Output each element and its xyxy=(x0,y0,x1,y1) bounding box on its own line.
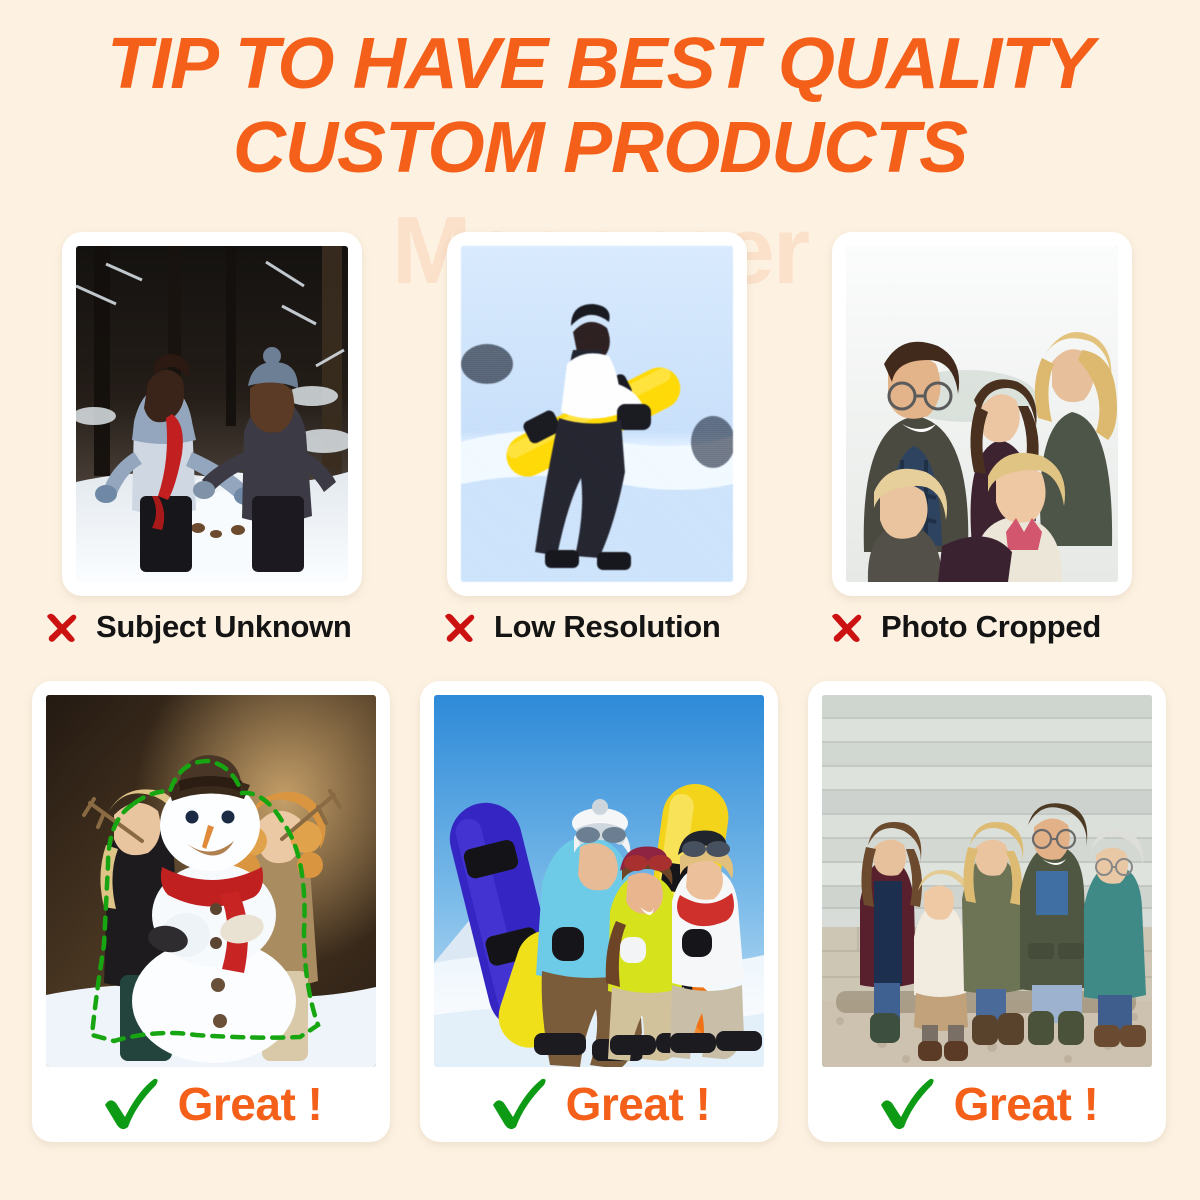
bad-label-text: Low Resolution xyxy=(494,609,721,645)
good-label-snowman-couple: Great ! xyxy=(46,1067,376,1138)
photo-low-resolution xyxy=(461,246,733,582)
photo-illustration-snowboarders xyxy=(434,695,764,1067)
good-label-text: Great ! xyxy=(566,1077,711,1131)
x-mark-icon xyxy=(42,607,82,647)
check-mark-icon xyxy=(100,1075,162,1133)
good-label-text: Great ! xyxy=(954,1077,1099,1131)
photo-snowman-couple xyxy=(46,695,376,1067)
good-example-card-three-snowboarders: Great ! xyxy=(420,681,778,1142)
good-label-text: Great ! xyxy=(178,1077,323,1131)
page-title: TIP TO HAVE BEST QUALITY CUSTOM PRODUCTS xyxy=(0,22,1200,190)
photo-subject-unknown xyxy=(76,246,348,582)
good-label-three-snowboarders: Great ! xyxy=(434,1067,764,1138)
good-example-card-snowman-couple: Great ! xyxy=(32,681,390,1142)
bad-label-text: Subject Unknown xyxy=(96,609,352,645)
bad-example-card-subject-unknown xyxy=(62,232,362,596)
check-mark-icon xyxy=(488,1075,550,1133)
good-example-card-family-barn: Great ! xyxy=(808,681,1166,1142)
photo-three-snowboarders xyxy=(434,695,764,1067)
photo-illustration-family-cropped xyxy=(846,246,1118,582)
page-title-line-1: TIP TO HAVE BEST QUALITY xyxy=(0,22,1200,106)
photo-family-barn xyxy=(822,695,1152,1067)
bad-label-low-resolution: Low Resolution xyxy=(440,607,721,647)
photo-illustration-snowy-forest xyxy=(76,246,348,582)
x-mark-icon xyxy=(440,607,480,647)
x-mark-icon xyxy=(827,607,867,647)
bad-example-card-photo-cropped xyxy=(832,232,1132,596)
photo-illustration-snowman-couple xyxy=(46,695,376,1067)
bad-example-card-low-resolution xyxy=(447,232,747,596)
bad-label-photo-cropped: Photo Cropped xyxy=(827,607,1101,647)
photo-illustration-family-barn xyxy=(822,695,1152,1067)
photo-cropped xyxy=(846,246,1118,582)
bad-label-text: Photo Cropped xyxy=(881,609,1101,645)
photo-illustration-snowboarder-pixelated xyxy=(461,246,733,582)
check-mark-icon xyxy=(876,1075,938,1133)
bad-label-subject-unknown: Subject Unknown xyxy=(42,607,352,647)
page-title-line-2: CUSTOM PRODUCTS xyxy=(0,106,1200,190)
good-label-family-barn: Great ! xyxy=(822,1067,1152,1138)
